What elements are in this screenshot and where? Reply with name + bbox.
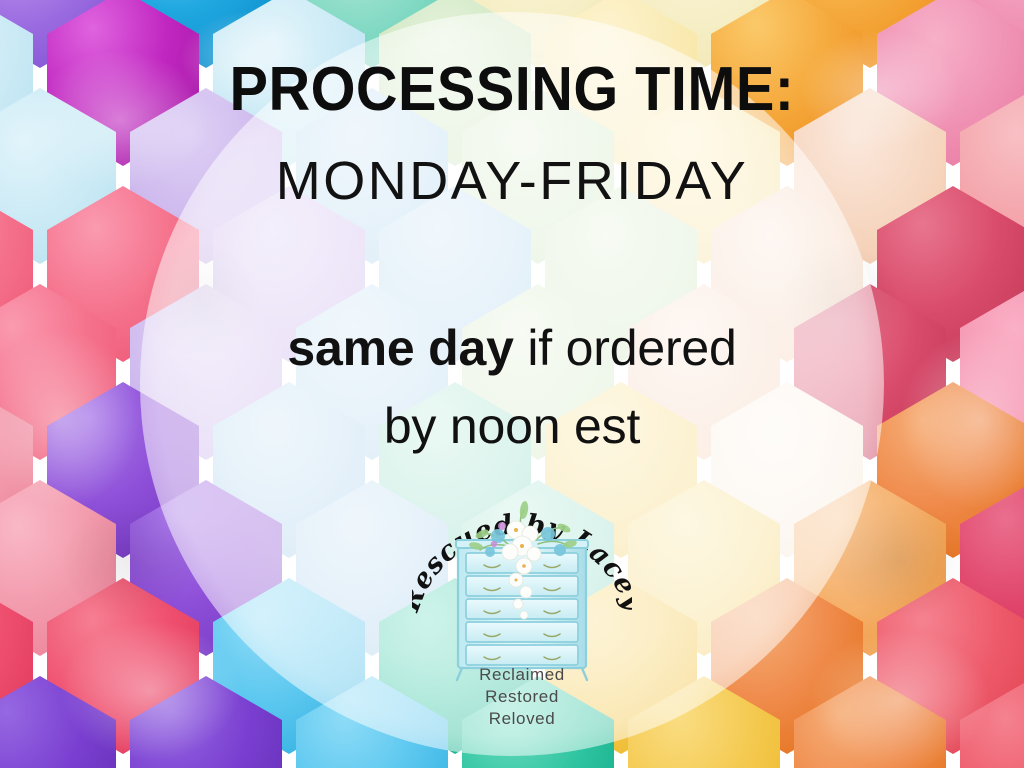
processing-time-graphic: PROCESSING TIME: MONDAY-FRIDAY same day …: [0, 0, 1024, 768]
logo-tagline-line-3: Reloved: [412, 708, 632, 730]
logo-tagline: Reclaimed Restored Reloved: [412, 664, 632, 730]
logo-tagline-line-2: Restored: [412, 686, 632, 708]
logo-tagline-line-1: Reclaimed: [412, 664, 632, 686]
